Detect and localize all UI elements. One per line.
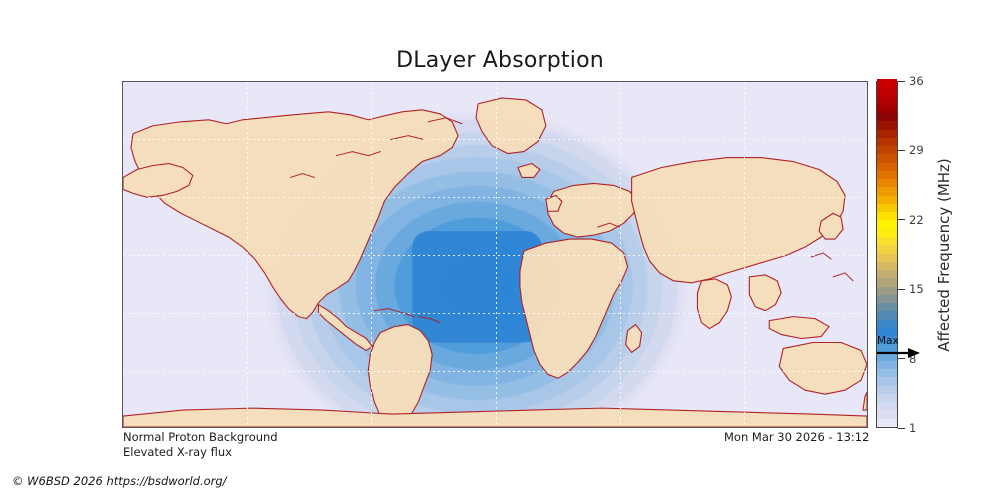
- colorbar-segment: [877, 137, 897, 146]
- colorbar-segment: [877, 129, 897, 138]
- colorbar-max-marker: Max: [876, 338, 922, 364]
- world-map-panel[interactable]: [122, 81, 868, 428]
- colorbar-segment: [877, 393, 897, 402]
- colorbar-segment: [877, 311, 897, 320]
- page-title: DLayer Absorption: [0, 48, 1000, 73]
- colorbar-axis-label: Affected Frequency (MHz): [932, 81, 956, 428]
- colorbar-segment: [877, 377, 897, 386]
- colorbar-tick: 29: [898, 143, 924, 157]
- tick-dash: [898, 289, 905, 290]
- colorbar-segment: [877, 112, 897, 121]
- arrow-right-icon: [876, 347, 922, 359]
- map-layers: [123, 82, 867, 427]
- colorbar-segment: [877, 228, 897, 237]
- colorbar-segment: [877, 236, 897, 245]
- tick-label: 15: [909, 282, 924, 296]
- tick-dash: [898, 428, 905, 429]
- status-line-xray: Elevated X-ray flux: [123, 445, 278, 460]
- colorbar-segment: [877, 418, 897, 427]
- colorbar-segment: [877, 79, 897, 88]
- colorbar-segment: [877, 187, 897, 196]
- colorbar-segment: [877, 402, 897, 411]
- colorbar-segment: [877, 319, 897, 328]
- colorbar-segment: [877, 121, 897, 130]
- colorbar-segment: [877, 245, 897, 254]
- colorbar-segment: [877, 88, 897, 97]
- colorbar-segment: [877, 286, 897, 295]
- copyright-label: © W6BSD 2026 https://bsdworld.org/: [12, 474, 227, 488]
- colorbar-segment: [877, 385, 897, 394]
- colorbar[interactable]: 3629221581: [876, 81, 898, 428]
- timestamp-label: Mon Mar 30 2026 - 13:12: [724, 430, 869, 444]
- colorbar-segment: [877, 195, 897, 204]
- colorbar-tick: 1: [898, 421, 916, 435]
- tick-label: 36: [909, 74, 924, 88]
- colorbar-segment: [877, 146, 897, 155]
- tick-label: 1: [909, 421, 916, 435]
- colorbar-tick: 15: [898, 282, 924, 296]
- colorbar-gradient: [876, 81, 898, 428]
- colorbar-segment: [877, 162, 897, 171]
- colorbar-segment: [877, 278, 897, 287]
- colorbar-segment: [877, 96, 897, 105]
- colorbar-segment: [877, 212, 897, 221]
- colorbar-segment: [877, 179, 897, 188]
- colorbar-segment: [877, 410, 897, 419]
- colorbar-segment: [877, 203, 897, 212]
- tick-label: 29: [909, 143, 924, 157]
- tick-dash: [898, 150, 905, 151]
- colorbar-segment: [877, 154, 897, 163]
- colorbar-segment: [877, 294, 897, 303]
- colorbar-segment: [877, 261, 897, 270]
- tick-dash: [898, 219, 905, 220]
- colorbar-segment: [877, 269, 897, 278]
- colorbar-segment: [877, 369, 897, 378]
- colorbar-segment: [877, 253, 897, 262]
- colorbar-segment: [877, 170, 897, 179]
- max-marker-label: Max: [877, 335, 899, 347]
- colorbar-segment: [877, 104, 897, 113]
- colorbar-tick: 36: [898, 74, 924, 88]
- colorbar-segment: [877, 220, 897, 229]
- colorbar-tick: 22: [898, 213, 924, 227]
- status-line-proton: Normal Proton Background: [123, 430, 278, 445]
- map-graphic: [123, 82, 867, 427]
- colorbar-segment: [877, 302, 897, 311]
- tick-dash: [898, 81, 905, 82]
- status-annotations: Normal Proton Background Elevated X-ray …: [123, 430, 278, 460]
- tick-label: 22: [909, 213, 924, 227]
